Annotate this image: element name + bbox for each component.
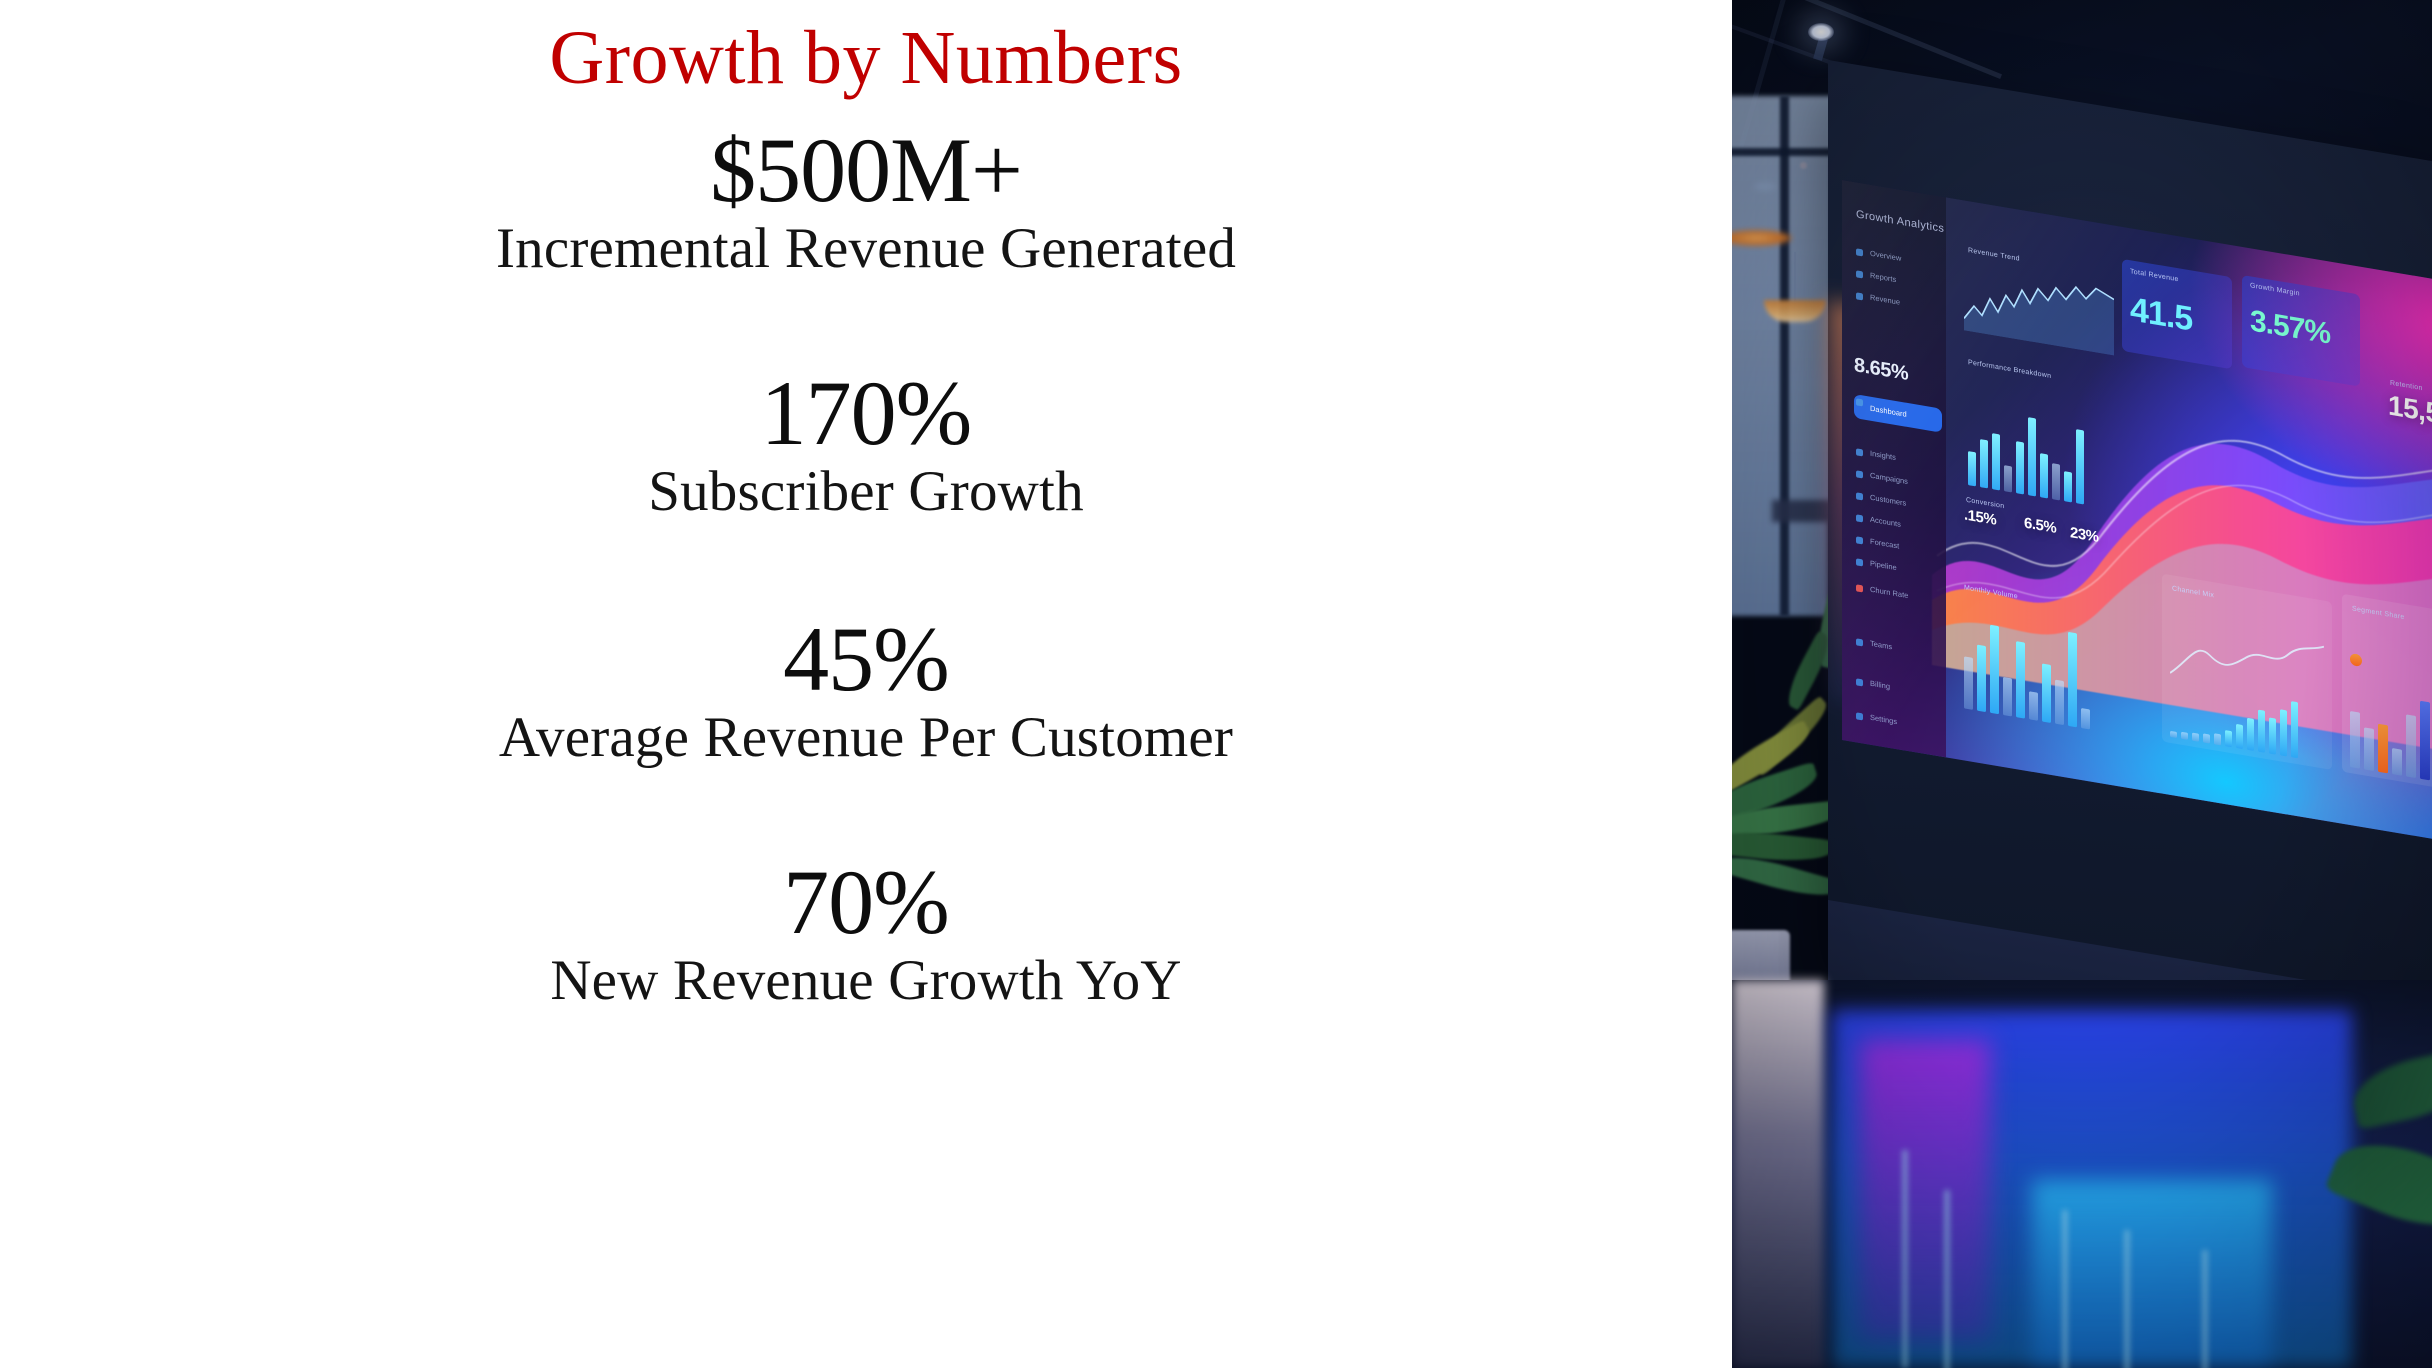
floor-reflection-streak (2062, 1210, 2068, 1368)
spotlight-icon (1808, 23, 1834, 41)
dashboard-screen: Growth Analytics Overview Reports Revenu… (1842, 180, 2432, 847)
stat-item: 170% Subscriber Growth (0, 367, 1732, 522)
dashboard-logo: Growth Analytics (1856, 208, 1944, 235)
sidebar-item-dashboard-active[interactable]: Dashboard (1854, 394, 1942, 433)
stat-label: Incremental Revenue Generated (0, 218, 1732, 280)
floor-reflection-streak (1944, 1190, 1950, 1368)
dashboard-sidebar: Growth Analytics Overview Reports Revenu… (1842, 180, 1946, 757)
floor-reflection-streak (2202, 1250, 2208, 1368)
sidebar-item-churn-rate[interactable]: Churn Rate (1854, 580, 1938, 608)
floor-highlight (1732, 980, 1824, 1368)
stat-value: 45% (0, 613, 1732, 707)
floor-reflection-streak (2124, 1230, 2130, 1368)
stat-label: New Revenue Growth YoY (0, 950, 1732, 1012)
floor-reflection (2032, 1180, 2272, 1368)
slide-canvas: Growth by Numbers $500M+ Incremental Rev… (0, 0, 2432, 1368)
page-title: Growth by Numbers (0, 16, 1732, 101)
sidebar-item-teams[interactable]: Teams (1854, 634, 1938, 662)
floor-reflection-streak (1902, 1150, 1908, 1368)
panel-title-revenue-trend: Revenue Trend (1968, 247, 2020, 263)
stat-label: Subscriber Growth (0, 461, 1732, 523)
stat-value: 70% (0, 856, 1732, 950)
stats-list: $500M+ Incremental Revenue Generated 170… (0, 118, 1732, 1012)
window-mullion (1780, 96, 1789, 616)
sidebar-kpi-value: 8.65% (1854, 354, 1908, 386)
stat-value: $500M+ (0, 124, 1732, 218)
sidebar-item-pipeline[interactable]: Pipeline (1854, 554, 1938, 582)
stat-label: Average Revenue Per Customer (0, 707, 1732, 769)
content-panel: Growth by Numbers $500M+ Incremental Rev… (0, 0, 1732, 1368)
sidebar-item-settings[interactable]: Settings (1854, 708, 1938, 736)
stat-value: 170% (0, 367, 1732, 461)
stat-item: $500M+ Incremental Revenue Generated (0, 124, 1732, 279)
sidebar-item-revenue[interactable]: Revenue (1854, 288, 1938, 316)
kpi-value-retention: 15,53% (2388, 389, 2432, 436)
revenue-trend-line-chart (1964, 260, 2114, 355)
sidebar-item-billing[interactable]: Billing (1854, 674, 1938, 702)
pendant-lamp-cord (1794, 252, 1796, 304)
stat-item: 70% New Revenue Growth YoY (0, 856, 1732, 1011)
floor-reflection (1860, 1040, 1990, 1340)
office-dashboard-display-photo: Growth Analytics Overview Reports Revenu… (1732, 0, 2432, 1368)
segment-share-bar-chart (2350, 675, 2432, 784)
stat-item: 45% Average Revenue Per Customer (0, 613, 1732, 768)
